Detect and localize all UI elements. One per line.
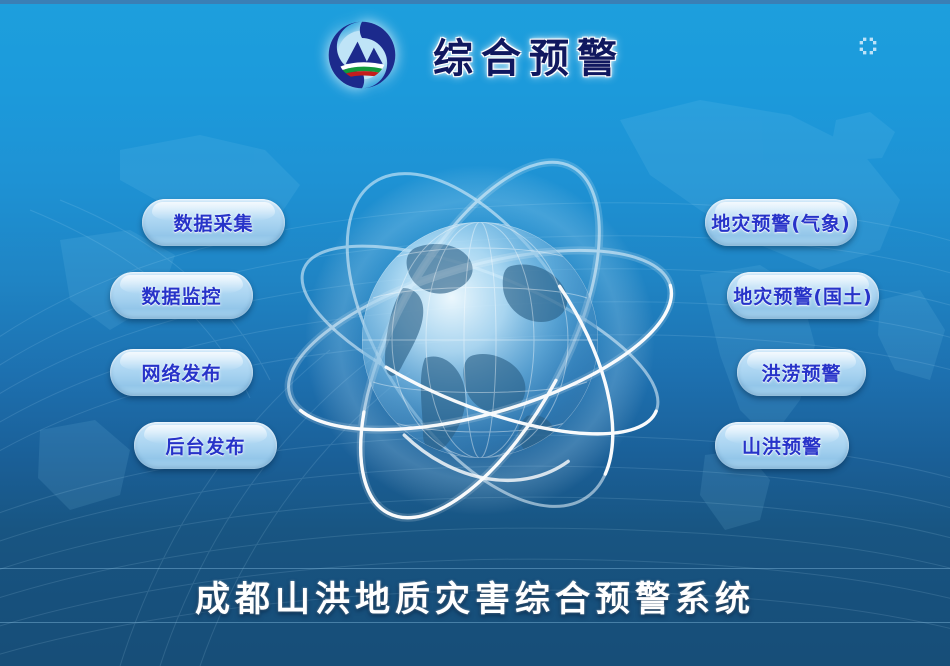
geohazard-warning-meteorology-button[interactable]: 地灾预警(气象) (705, 199, 857, 246)
header: 综合预警 (0, 18, 950, 92)
menu-label: 地灾预警(国土) (733, 282, 872, 309)
menu-label: 山洪预警 (742, 432, 822, 459)
menu-label: 网络发布 (141, 359, 221, 386)
world-map-silhouette (0, 0, 950, 666)
fullscreen-expand-icon[interactable] (858, 36, 878, 56)
brand-title: 综合预警 (433, 26, 625, 84)
menu-label: 地灾预警(气象) (711, 209, 850, 236)
data-collection-button[interactable]: 数据采集 (142, 199, 285, 246)
flash-flood-warning-button[interactable]: 山洪预警 (715, 422, 849, 469)
geohazard-warning-landresources-button[interactable]: 地灾预警(国土) (727, 272, 879, 319)
flood-warning-button[interactable]: 洪涝预警 (737, 349, 866, 396)
backend-publish-button[interactable]: 后台发布 (134, 422, 277, 469)
app-root: 综合预警 数据采集 数据监控 网络发布 后台发布 地灾预警(气象) 地灾预警(国… (0, 0, 950, 666)
web-publish-button[interactable]: 网络发布 (110, 349, 253, 396)
menu-label: 后台发布 (165, 432, 245, 459)
system-title: 成都山洪地质灾害综合预警系统 (0, 571, 950, 622)
menu-label: 数据监控 (141, 282, 221, 309)
data-monitoring-button[interactable]: 数据监控 (110, 272, 253, 319)
orbiting-globe-graphic (265, 120, 695, 560)
menu-label: 洪涝预警 (761, 359, 841, 386)
menu-label: 数据采集 (173, 209, 253, 236)
title-band-line-bottom (0, 622, 950, 623)
background-hairlines (0, 0, 950, 666)
mountain-water-emblem-icon (325, 18, 399, 92)
title-band-line-top (0, 568, 950, 569)
